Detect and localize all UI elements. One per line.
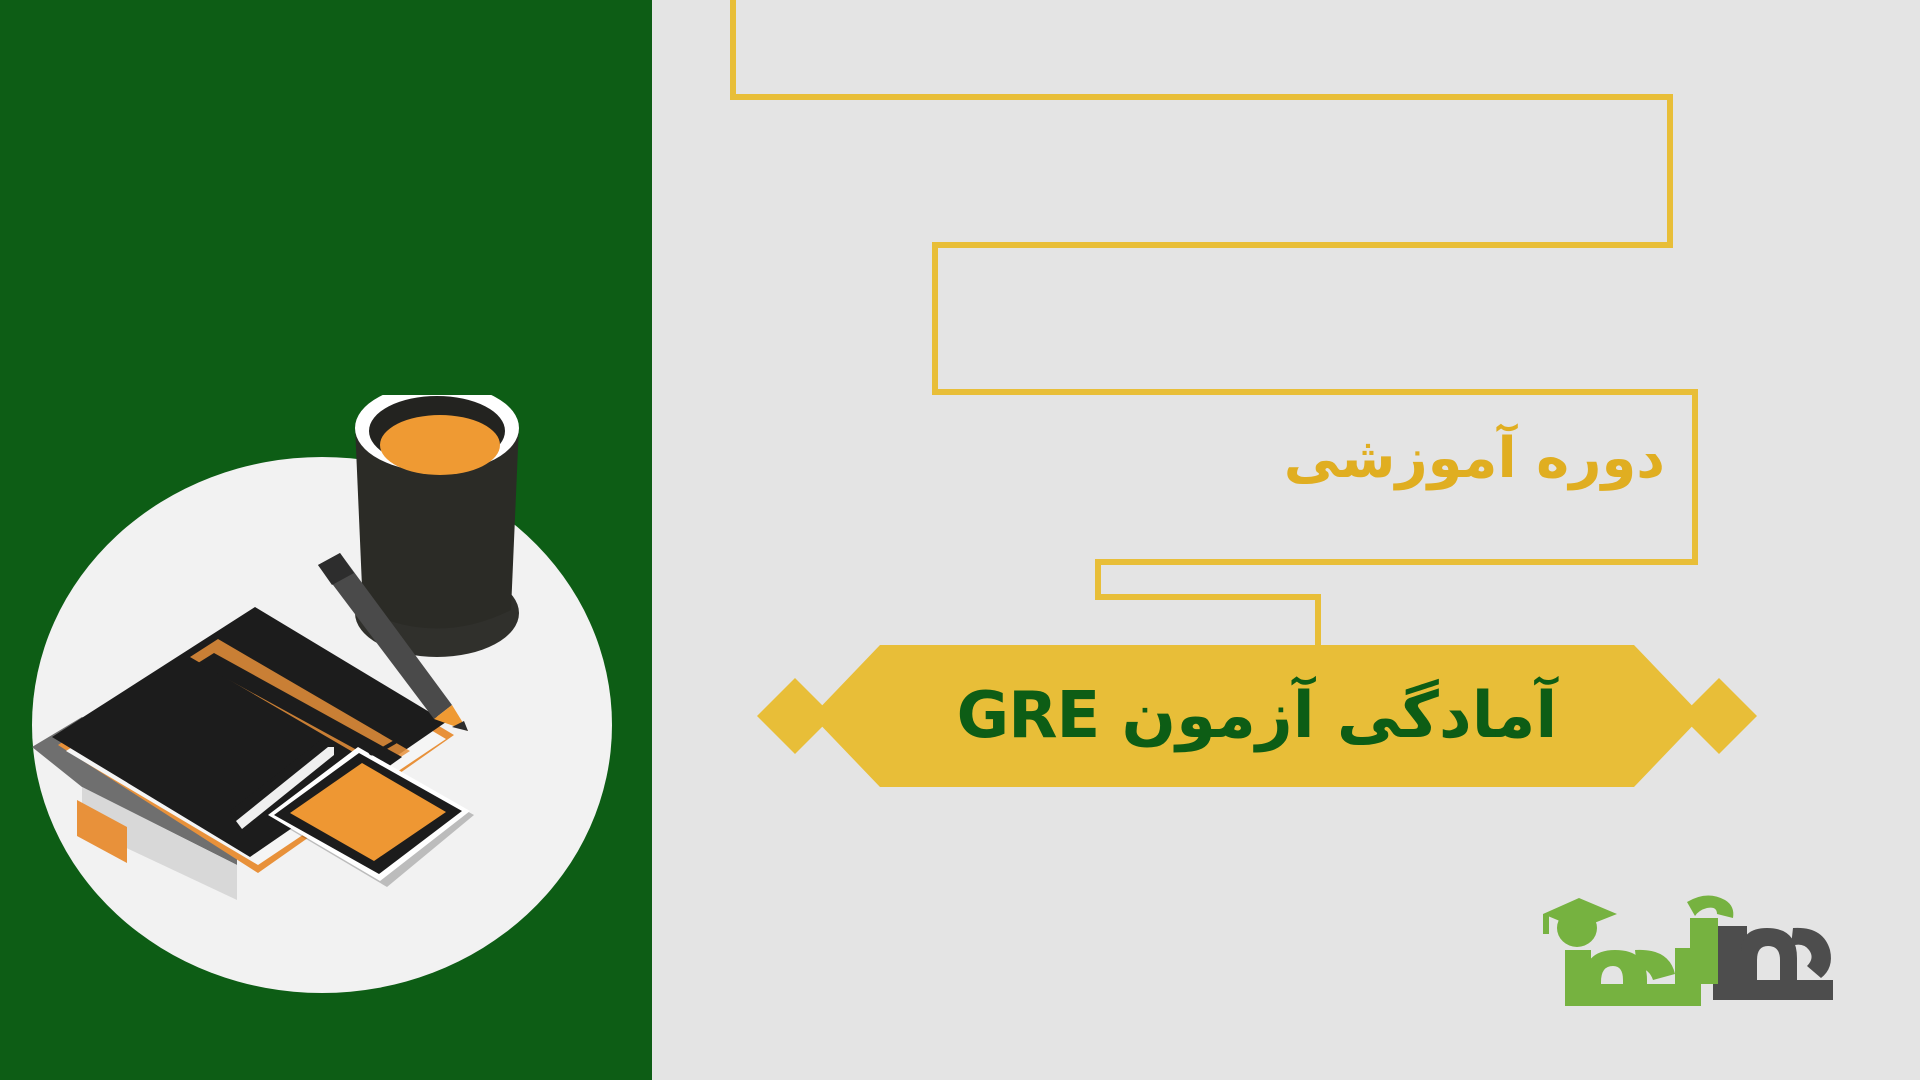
- page-title: آمادگی آزمون GRE: [757, 684, 1757, 748]
- poster-root: دوره آموزشی آمادگی آزمون GRE: [0, 0, 1920, 1080]
- subtitle-text: دوره آموزشی: [1245, 428, 1665, 490]
- logo-text-gray: [1713, 926, 1833, 1000]
- desk-flatlay-illustration: [22, 395, 642, 995]
- brand-logo[interactable]: [1535, 888, 1835, 1013]
- graduation-cap-icon: [1543, 898, 1617, 947]
- main-title-banner: آمادگی آزمون GRE: [757, 640, 1757, 792]
